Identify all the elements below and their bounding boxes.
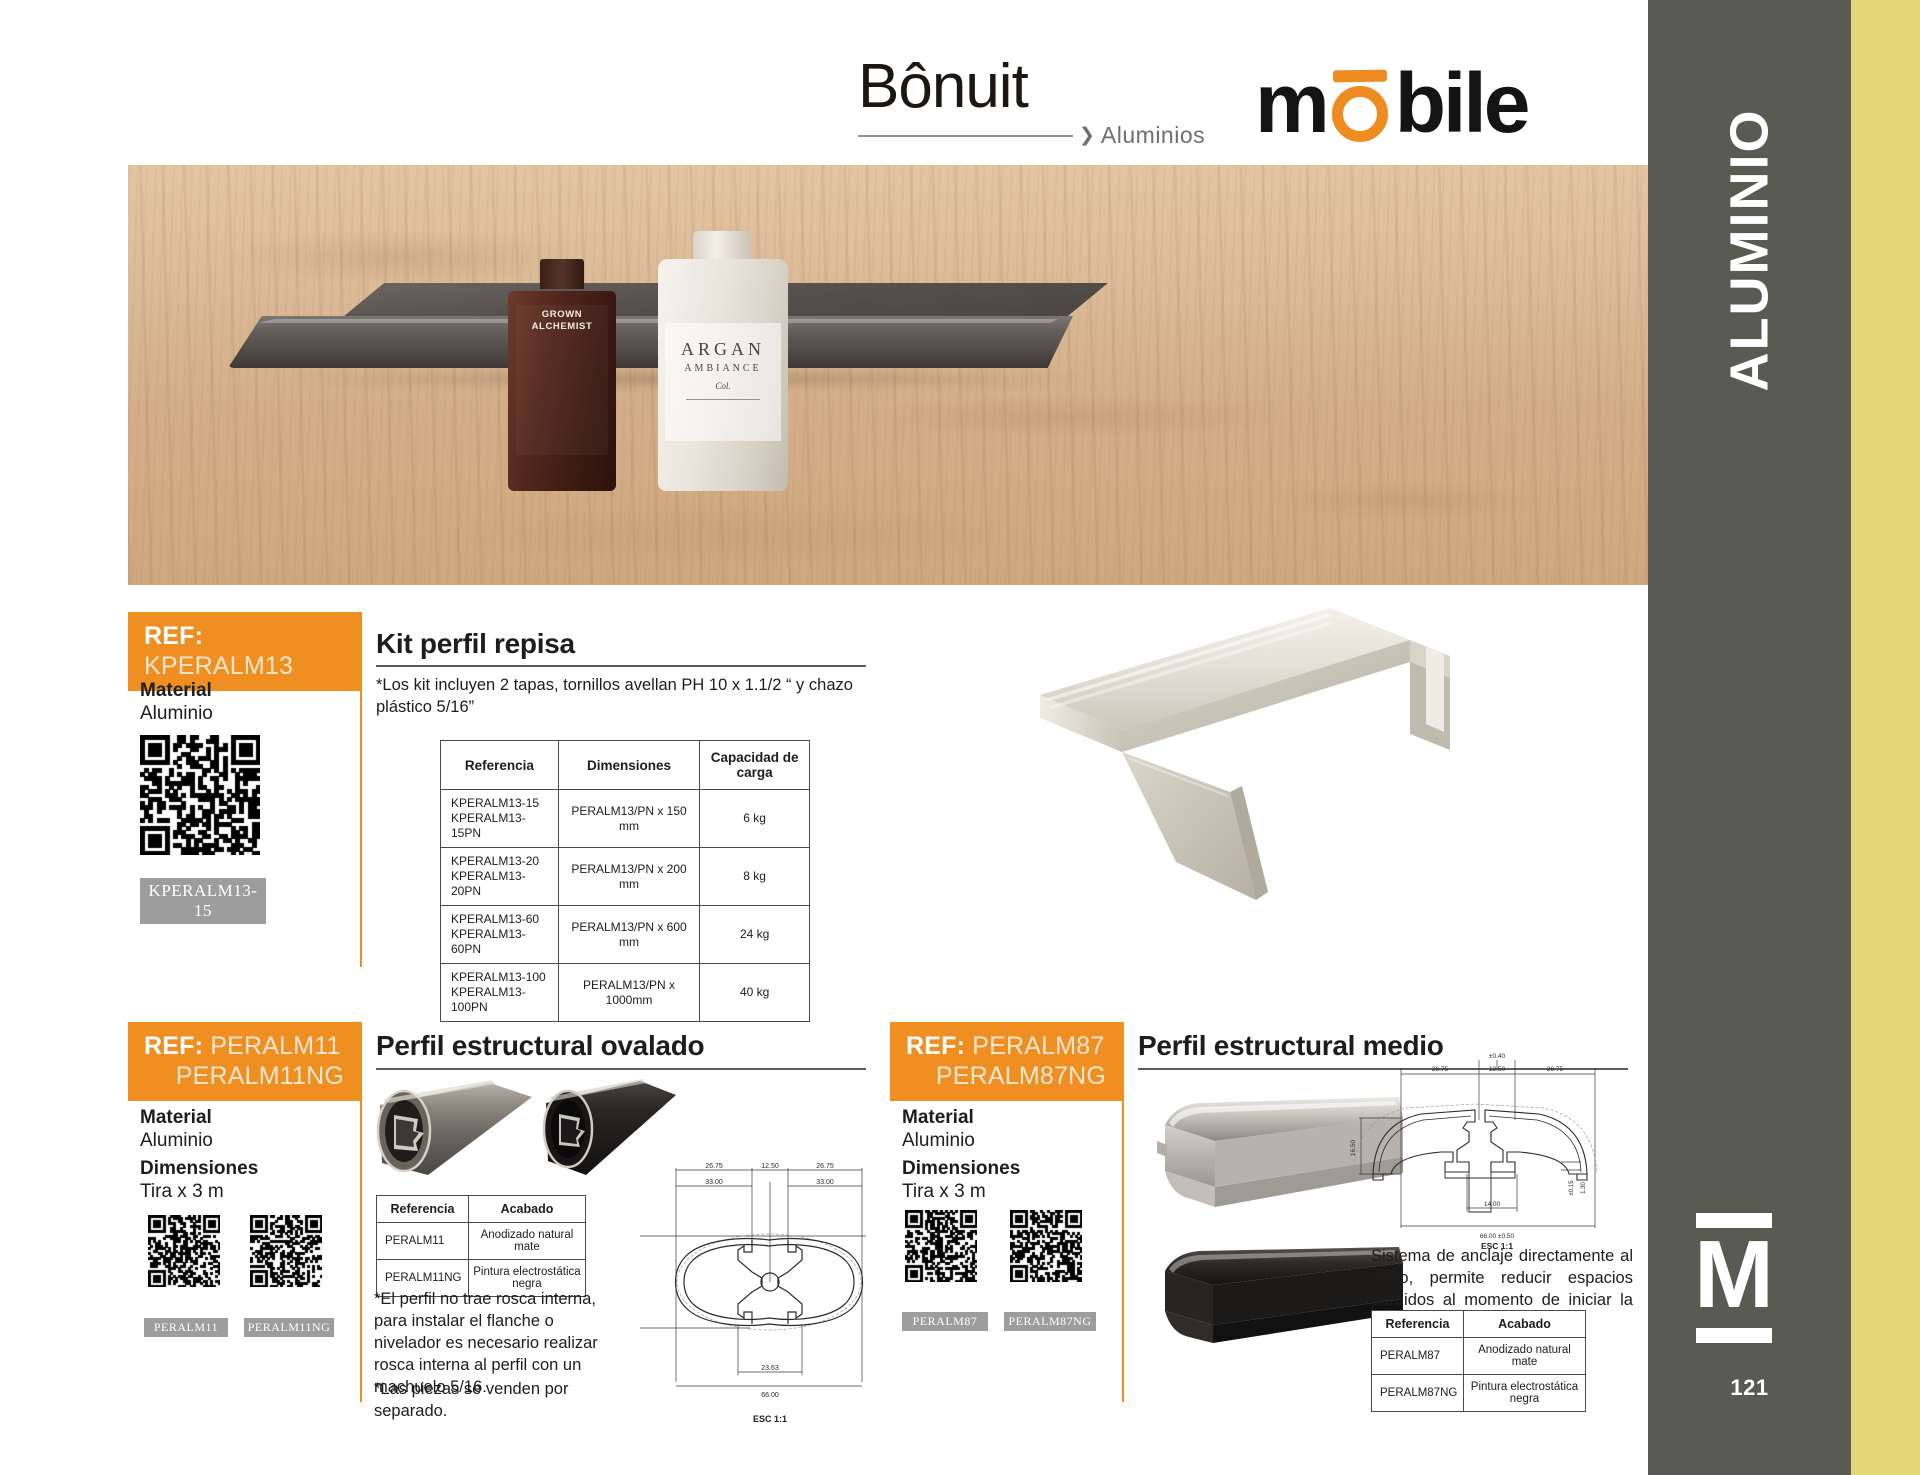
svg-text:1.30: 1.30	[1581, 1182, 1587, 1194]
th-acabado-3: Acabado	[1463, 1311, 1585, 1338]
svg-text:66.00 ±0.50: 66.00 ±0.50	[1480, 1233, 1515, 1240]
mobile-o-ring-icon	[1329, 76, 1393, 140]
section-rule-1	[376, 665, 866, 667]
mobile-logo: mbile	[1255, 58, 1527, 148]
bonuit-rule	[858, 135, 1073, 137]
th-referencia-2: Referencia	[377, 1196, 469, 1223]
qr-label-peralm11: PERALM11	[144, 1318, 228, 1337]
material-label-2: Material	[140, 1107, 212, 1129]
material-label-3: Material	[902, 1107, 974, 1129]
hero-photo: GROWN ALCHEMIST ARGAN AMBIANCE Col.	[128, 165, 1650, 585]
divider-vertical-3	[1122, 1022, 1124, 1402]
dark-bottle-cap	[540, 259, 584, 289]
qr-label-peralm87ng: PERALM87NG	[1004, 1312, 1096, 1331]
divider-vertical-2	[360, 1022, 362, 1402]
divider-vertical-1	[360, 612, 362, 967]
svg-text:12.50: 12.50	[761, 1163, 779, 1170]
logo-letter-m: M	[1694, 1237, 1772, 1321]
white-bottle-line1: ARGAN	[681, 339, 765, 360]
page-header: Bônuit ❯ Aluminios mbile	[0, 48, 1648, 158]
table-row: PERALM11Anodizado natural mate	[377, 1223, 586, 1260]
svg-text:12.50: 12.50	[1489, 1066, 1506, 1073]
cell-ref: PERALM87NG	[1372, 1375, 1464, 1412]
section-subtitle-1: *Los kit incluyen 2 tapas, tornillos ave…	[376, 674, 856, 718]
cell-cap: 6 kg	[700, 790, 810, 848]
cell-dim: PERALM13/PN x 600 mm	[558, 906, 700, 964]
ref-code-2: PERALM11	[210, 1032, 340, 1060]
chevron-right-icon: ❯	[1079, 126, 1095, 145]
cell-ref: KPERALM13-60KPERALM13-60PN	[441, 906, 559, 964]
th-capacidad-1: Capacidad de carga	[700, 741, 810, 790]
dimensions-label-2: Dimensiones	[140, 1158, 258, 1180]
ref-code-3b: PERALM87NG	[906, 1061, 1106, 1091]
dimensions-value-3: Tira x 3 m	[902, 1181, 986, 1203]
mobile-logo-pre: m	[1255, 56, 1327, 150]
bonuit-tagline: ❯ Aluminios	[858, 122, 1208, 149]
sidebar-category-label: ALUMINIO	[1719, 109, 1781, 392]
logo-bar-bottom	[1696, 1328, 1772, 1343]
ref-badge-peralm11: REF: PERALM11 PERALM11NG	[128, 1022, 360, 1101]
th-referencia-3: Referencia	[1372, 1311, 1464, 1338]
table-row: PERALM87NGPintura electrostática negra	[1372, 1375, 1586, 1412]
cell-dim: PERALM13/PN x 1000mm	[558, 964, 700, 1022]
cell-dim: PERALM13/PN x 200 mm	[558, 848, 700, 906]
mobile-m-logo: M	[1694, 1213, 1772, 1363]
technical-drawing-peralm11: 26.75 12.50 26.75 33.00 33.00 23.63 66.0…	[640, 1160, 910, 1430]
cell-ref: KPERALM13-100KPERALM13-100PN	[441, 964, 559, 1022]
cell-finish: Anodizado natural mate	[468, 1223, 585, 1260]
svg-text:26.75: 26.75	[816, 1163, 834, 1170]
category-sidebar: ALUMINIO M 121	[1648, 0, 1920, 1475]
svg-text:±0.40: ±0.40	[1489, 1053, 1506, 1060]
ref-label-2: REF:	[144, 1032, 203, 1060]
material-label-1: Material	[140, 680, 212, 702]
cell-cap: 24 kg	[700, 906, 810, 964]
qr-code-peralm87ng[interactable]	[1010, 1210, 1082, 1282]
note-peralm11-2: *Las piezas se venden por separado.	[374, 1378, 604, 1422]
table-peralm11: Referencia Acabado PERALM11Anodizado nat…	[376, 1195, 586, 1297]
white-bottle-line2: AMBIANCE	[684, 363, 761, 374]
cell-dim: PERALM13/PN x 150 mm	[558, 790, 700, 848]
qr-code-peralm11ng[interactable]	[250, 1215, 322, 1287]
shelf-profile-render	[1030, 600, 1510, 930]
section-rule-2	[376, 1068, 866, 1070]
ref-code-2b: PERALM11NG	[144, 1061, 344, 1091]
svg-text:26.75: 26.75	[1547, 1066, 1564, 1073]
ref-code-3: PERALM87	[972, 1032, 1104, 1060]
bonuit-subtitle: Aluminios	[1101, 122, 1205, 149]
svg-text:33.00: 33.00	[816, 1179, 834, 1186]
table-row: KPERALM13-100KPERALM13-100PNPERALM13/PN …	[441, 964, 810, 1022]
qr-code-peralm87[interactable]	[905, 1210, 977, 1282]
oval-profile-silver-photo	[372, 1075, 537, 1193]
table-header-row-3: Referencia Acabado	[1372, 1311, 1586, 1338]
sidebar-category-title: ALUMINIO	[1648, 40, 1851, 460]
table-row: KPERALM13-20KPERALM13-20PNPERALM13/PN x …	[441, 848, 810, 906]
material-value-1: Aluminio	[140, 703, 213, 725]
medio-profile-black-photo	[1155, 1245, 1405, 1355]
section-title-1: Kit perfil repisa	[376, 628, 575, 660]
ref-label-1: REF:	[144, 622, 203, 650]
bonuit-wordmark: Bônuit	[858, 56, 1208, 118]
section-title-2: Perfil estructural ovalado	[376, 1030, 704, 1062]
table-body-1: KPERALM13-15KPERALM13-15PNPERALM13/PN x …	[441, 790, 810, 1022]
th-acabado-2: Acabado	[468, 1196, 585, 1223]
sidebar-yellow-band	[1851, 0, 1920, 1475]
cell-finish: Pintura electrostática negra	[1463, 1375, 1585, 1412]
esc-label-peralm11: ESC 1:1	[753, 1414, 787, 1424]
white-bottle-line3: Col.	[715, 381, 730, 391]
svg-text:66.00: 66.00	[761, 1392, 779, 1399]
cell-cap: 8 kg	[700, 848, 810, 906]
svg-text:23.63: 23.63	[761, 1365, 779, 1372]
dark-bottle-brand: GROWN ALCHEMIST	[522, 309, 602, 333]
table-row: PERALM87Anodizado natural mate	[1372, 1338, 1586, 1375]
svg-text:14.00: 14.00	[1484, 1201, 1501, 1208]
qr-code-peralm11[interactable]	[148, 1215, 220, 1287]
ref-label-3: REF:	[906, 1032, 965, 1060]
table-body-2: PERALM11Anodizado natural mate PERALM11N…	[377, 1223, 586, 1297]
th-dimensiones-1: Dimensiones	[558, 741, 700, 790]
material-value-3: Aluminio	[902, 1130, 975, 1152]
white-bottle-label: ARGAN AMBIANCE Col.	[665, 323, 781, 441]
table-header-row-1: Referencia Dimensiones Capacidad de carg…	[441, 741, 810, 790]
table-row: KPERALM13-60KPERALM13-60PNPERALM13/PN x …	[441, 906, 810, 964]
table-kperalm13: Referencia Dimensiones Capacidad de carg…	[440, 740, 810, 1022]
svg-text:16.50: 16.50	[1350, 1139, 1357, 1156]
ref-code-1: KPERALM13	[144, 652, 293, 680]
material-value-2: Aluminio	[140, 1130, 213, 1152]
qr-label-kperalm13-15: KPERALM13-15	[140, 878, 266, 924]
table-peralm87: Referencia Acabado PERALM87Anodizado nat…	[1371, 1310, 1586, 1412]
svg-text:33.00: 33.00	[705, 1179, 723, 1186]
technical-drawing-peralm87: ±0.40 26.75 12.50 26.75 14.00 66.00 ±0.5…	[1345, 1046, 1615, 1251]
dimensions-label-3: Dimensiones	[902, 1158, 1020, 1180]
cell-ref: PERALM11	[377, 1223, 469, 1260]
svg-text:±0.15: ±0.15	[1569, 1180, 1575, 1196]
cell-ref: KPERALM13-20KPERALM13-20PN	[441, 848, 559, 906]
cell-cap: 40 kg	[700, 964, 810, 1022]
th-referencia-1: Referencia	[441, 741, 559, 790]
qr-code-kperalm13-15[interactable]	[140, 735, 260, 855]
ref-badge-peralm87: REF: PERALM87 PERALM87NG	[890, 1022, 1122, 1101]
dark-bottle-label: GROWN ALCHEMIST	[516, 305, 608, 455]
qr-label-peralm11ng: PERALM11NG	[244, 1318, 334, 1337]
table-body-3: PERALM87Anodizado natural mate PERALM87N…	[1372, 1338, 1586, 1412]
svg-text:26.75: 26.75	[705, 1163, 723, 1170]
cell-ref: KPERALM13-15KPERALM13-15PN	[441, 790, 559, 848]
page-number: 121	[1648, 1375, 1851, 1401]
svg-text:26.75: 26.75	[1432, 1066, 1449, 1073]
shelf-product-photo: GROWN ALCHEMIST ARGAN AMBIANCE Col.	[228, 283, 1108, 378]
cell-ref: PERALM87	[1372, 1338, 1464, 1375]
table-row: KPERALM13-15KPERALM13-15PNPERALM13/PN x …	[441, 790, 810, 848]
catalog-page: Bônuit ❯ Aluminios mbile GROWN ALCHEMIST	[0, 0, 1920, 1475]
table-header-row-2: Referencia Acabado	[377, 1196, 586, 1223]
bonuit-logo: Bônuit ❯ Aluminios	[858, 56, 1208, 149]
dimensions-value-2: Tira x 3 m	[140, 1181, 224, 1203]
cell-finish: Anodizado natural mate	[1463, 1338, 1585, 1375]
qr-label-peralm87: PERALM87	[902, 1312, 988, 1331]
mobile-logo-post: bile	[1395, 56, 1528, 150]
